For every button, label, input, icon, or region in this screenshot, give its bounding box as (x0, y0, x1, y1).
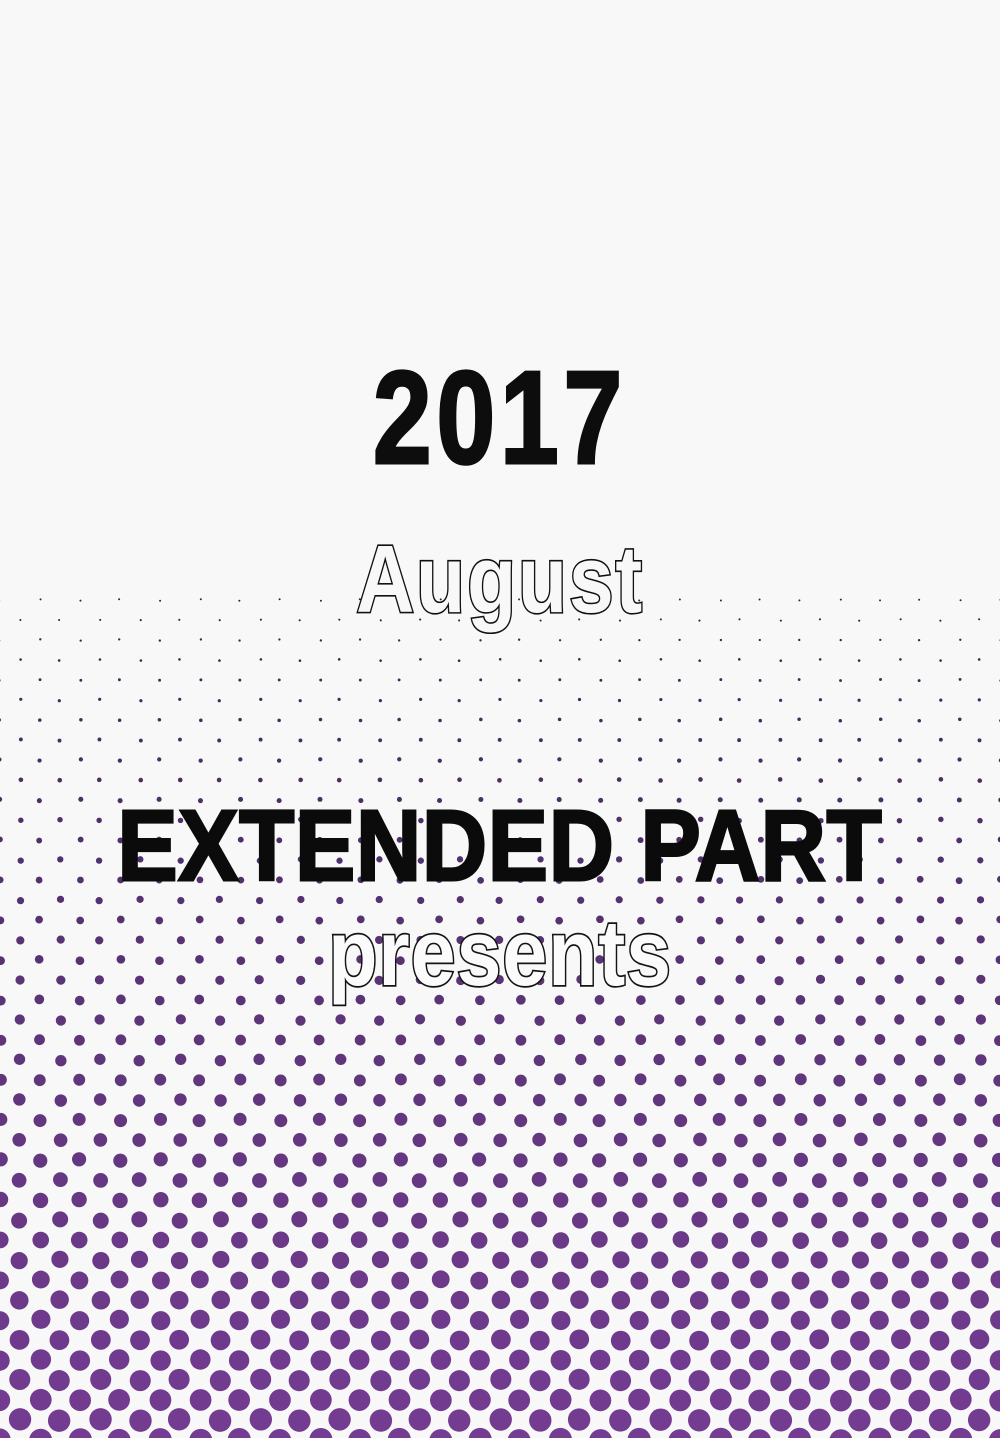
cover-circle-name: EXTENDED PART (50, 796, 950, 896)
cover-presents-label: presents (70, 906, 930, 1000)
cover-year: 2017 (100, 352, 900, 484)
cover-text-layer: 2017 August EXTENDED PART presents (0, 0, 1000, 1438)
cover-month: August (80, 532, 920, 628)
cover-page: 2017 August EXTENDED PART presents (0, 0, 1000, 1438)
